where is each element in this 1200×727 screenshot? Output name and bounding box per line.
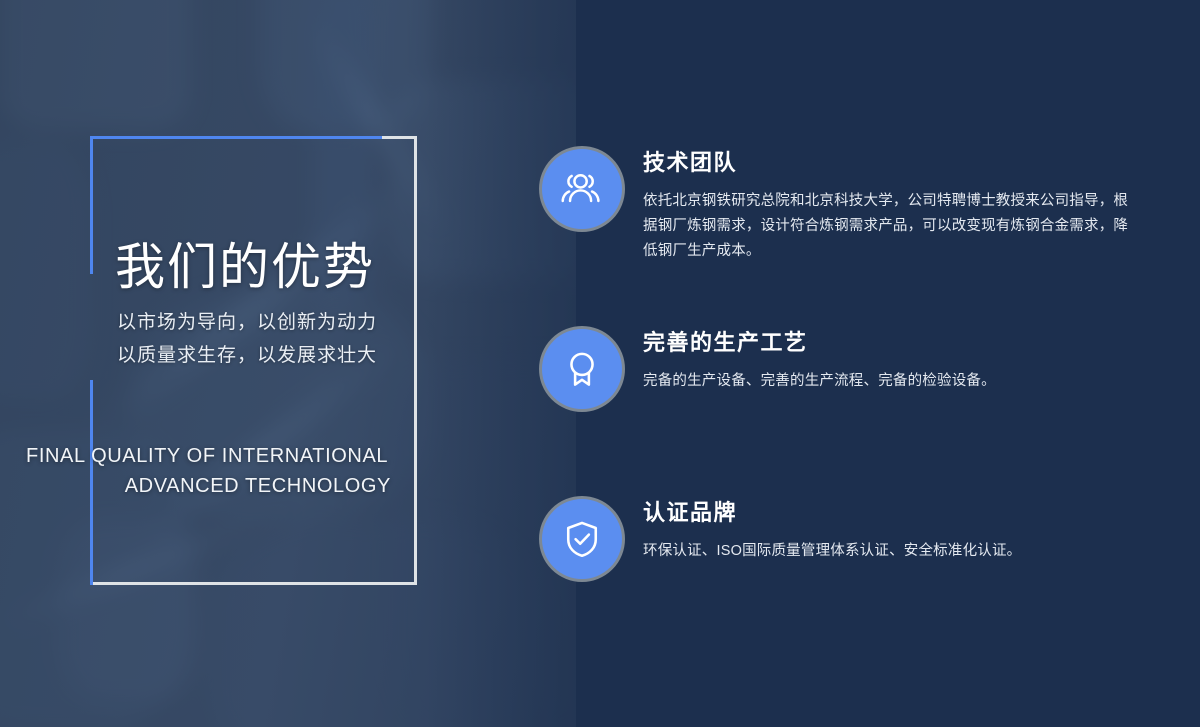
award-ribbon-icon — [539, 326, 625, 412]
feature-title: 认证品牌 — [643, 500, 1129, 526]
feature-text-block: 完善的生产工艺 完备的生产设备、完善的生产流程、完备的检验设备。 — [643, 330, 1129, 394]
feature-title: 完善的生产工艺 — [643, 330, 1129, 356]
feature-description: 完备的生产设备、完善的生产流程、完备的检验设备。 — [643, 369, 1129, 394]
feature-list: 技术团队 依托北京钢铁研究总院和北京科技大学，公司特聘博士教授来公司指导，根据钢… — [0, 0, 1200, 727]
feature-description: 依托北京钢铁研究总院和北京科技大学，公司特聘博士教授来公司指导，根据钢厂炼钢需求… — [643, 189, 1129, 264]
feature-text-block: 认证品牌 环保认证、ISO国际质量管理体系认证、安全标准化认证。 — [643, 500, 1129, 564]
users-group-icon — [539, 146, 625, 232]
shield-check-icon — [539, 496, 625, 582]
feature-description: 环保认证、ISO国际质量管理体系认证、安全标准化认证。 — [643, 539, 1129, 564]
feature-title: 技术团队 — [643, 150, 1129, 176]
advantages-slide: 我们的优势 以市场为导向，以创新为动力 以质量求生存，以发展求壮大 FINAL … — [0, 0, 1200, 727]
feature-text-block: 技术团队 依托北京钢铁研究总院和北京科技大学，公司特聘博士教授来公司指导，根据钢… — [643, 150, 1129, 264]
